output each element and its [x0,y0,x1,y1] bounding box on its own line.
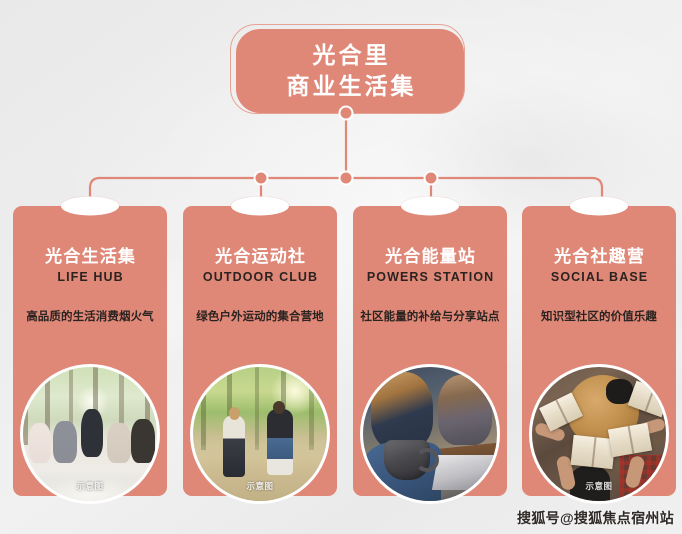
card-photo: 示意图 [190,364,330,504]
photo-mug [384,440,430,480]
photo-label: 示意图 [585,480,612,492]
card-description: 社区能量的补给与分享站点 [353,308,507,324]
card-description: 绿色户外运动的集合营地 [183,308,337,324]
diagram-canvas: 光合里 商业生活集 光合生活集 LIFE HUB 高品质的生活消费烟火气 [0,0,682,534]
connector-dot-right [424,171,439,186]
card-notch-icon [61,197,119,216]
connector-dot-center [339,171,354,186]
card-title-cn: 光合运动社 [183,242,337,267]
title-line-1: 光合里 [310,41,391,70]
photo-open-book [608,423,652,458]
card-title-en: SOCIAL BASE [522,270,676,284]
card-title-en: LIFE HUB [13,270,167,284]
card-title-cn: 光合社趣营 [522,242,676,267]
card-photo-inner: 示意图 [532,367,666,501]
card-photo: 示意图 [529,364,669,504]
card-photo-inner: 示意图 [23,367,157,501]
watermark-text: 搜狐号@搜狐焦点宿州站 [517,508,674,528]
card-notch-icon [401,197,459,216]
connector-dot-root [339,106,354,121]
category-card-social-base[interactable]: 光合社趣营 SOCIAL BASE 知识型社区的价值乐趣 示意图 [522,206,676,496]
photo-cafe-coffee-mug [363,367,497,501]
photo-laptop [432,455,497,490]
photo-label: 示意图 [246,480,273,492]
root-node-title-box: 光合里 商业生活集 [236,29,464,113]
photo-label: 示意图 [76,480,103,492]
card-photo: 示意图 [20,364,160,504]
category-card-powers-station[interactable]: 光合能量站 POWERS STATION 社区能量的补给与分享站点 示意图 [353,206,507,496]
card-notch-icon [570,197,628,216]
card-title-en: OUTDOOR CLUB [183,270,337,284]
card-photo-inner: 示意图 [193,367,327,501]
connector-dot-left [254,171,269,186]
category-card-outdoor-club[interactable]: 光合运动社 OUTDOOR CLUB 绿色户外运动的集合营地 示意图 [183,206,337,496]
title-line-2: 商业生活集 [284,72,417,101]
card-description: 知识型社区的价值乐趣 [522,308,676,324]
card-description: 高品质的生活消费烟火气 [13,308,167,324]
card-notch-icon [231,197,289,216]
card-title-cn: 光合能量站 [353,242,507,267]
card-title-cn: 光合生活集 [13,242,167,267]
watermark: 搜狐号@搜狐焦点宿州站 [517,508,674,528]
card-photo-inner: 示意图 [363,367,497,501]
card-photo: 示意图 [360,364,500,504]
category-card-life-hub[interactable]: 光合生活集 LIFE HUB 高品质的生活消费烟火气 示意图 [13,206,167,496]
card-title-en: POWERS STATION [353,270,507,284]
